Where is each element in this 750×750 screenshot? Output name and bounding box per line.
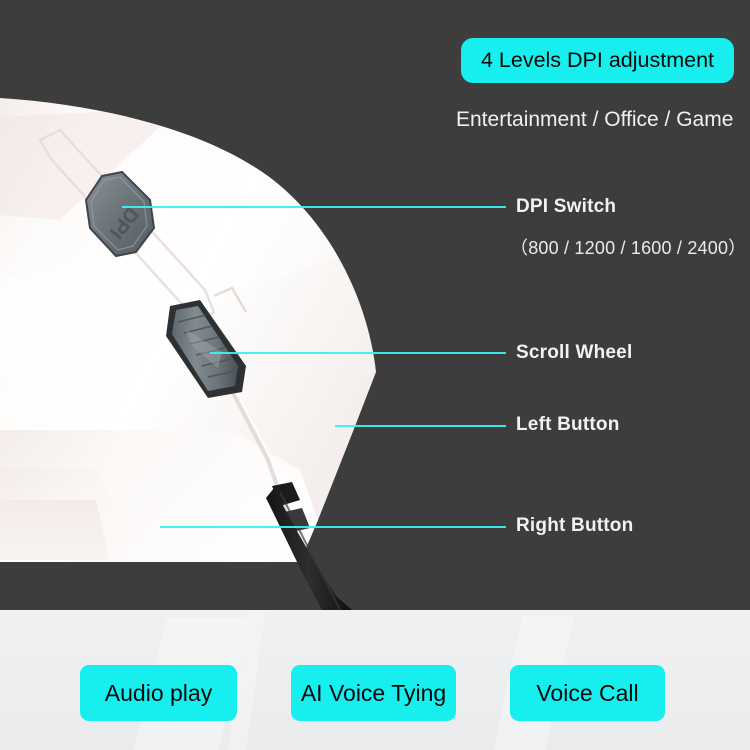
feature-badge-panel: Audio play AI Voice Tying Voice Call bbox=[0, 610, 750, 750]
leader-line-dpi-switch bbox=[122, 206, 506, 208]
leader-line-scroll-wheel bbox=[210, 352, 506, 354]
badge-row: Audio play AI Voice Tying Voice Call bbox=[0, 665, 750, 725]
feature-badge-audio-play[interactable]: Audio play bbox=[80, 665, 237, 721]
product-infographic: DPI bbox=[0, 0, 750, 750]
callout-label-dpi-switch: DPI Switch bbox=[516, 196, 616, 218]
feature-badge-ai-voice-tying[interactable]: AI Voice Tying bbox=[291, 665, 456, 721]
callout-label-right-button: Right Button bbox=[516, 515, 633, 537]
callout-label-left-button: Left Button bbox=[516, 414, 620, 436]
leader-line-left-button bbox=[335, 425, 506, 427]
headline-subtitle: Entertainment / Office / Game bbox=[456, 108, 733, 132]
feature-badge-voice-call[interactable]: Voice Call bbox=[510, 665, 665, 721]
callout-label-scroll-wheel: Scroll Wheel bbox=[516, 342, 632, 364]
mouse-product-image: DPI bbox=[0, 0, 750, 610]
leader-line-right-button bbox=[160, 526, 506, 528]
callout-detail-dpi-values: （800 / 1200 / 1600 / 2400） bbox=[510, 234, 746, 260]
dark-panel: DPI bbox=[0, 0, 750, 610]
headline-pill: 4 Levels DPI adjustment bbox=[461, 38, 734, 83]
